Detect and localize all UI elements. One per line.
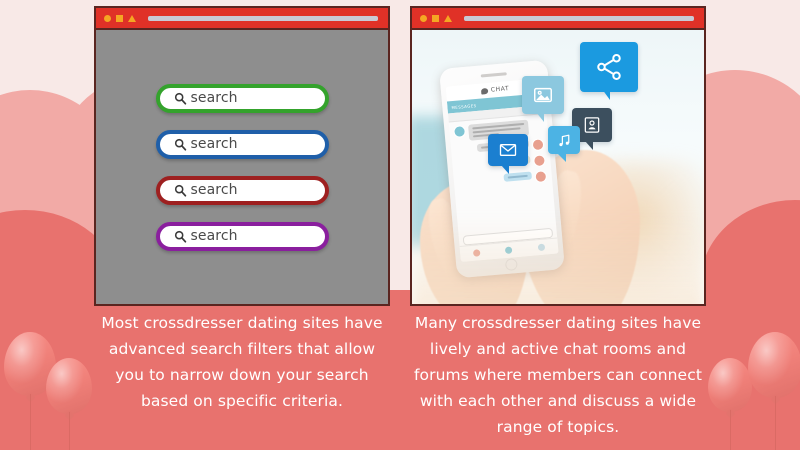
share-icon — [594, 52, 624, 82]
balloon-body — [46, 358, 92, 414]
balloon-body — [708, 358, 752, 412]
balloon-body — [748, 332, 800, 398]
balloon-decoration — [46, 358, 92, 414]
magnifier-icon — [174, 92, 187, 105]
chat-app-title: CHAT — [491, 85, 510, 94]
circle-dot-icon[interactable] — [104, 15, 111, 22]
contact-icon — [582, 115, 602, 135]
bubble-tail — [501, 165, 509, 174]
search-bar-list: search search search — [96, 30, 388, 304]
chat-browser-panel: CHAT MESSAGES — [410, 6, 706, 306]
chat-bubble-icon — [481, 87, 488, 94]
balloon-decoration — [708, 358, 752, 412]
chat-topbar-label: MESSAGES — [451, 102, 477, 109]
phone-speaker — [481, 72, 507, 77]
search-bar-label: search — [191, 136, 238, 152]
music-note-icon — [556, 132, 573, 149]
balloon-string — [730, 410, 731, 450]
avatar — [453, 125, 466, 138]
address-bar[interactable] — [464, 16, 694, 21]
search-browser-panel: search search search — [94, 6, 390, 306]
address-bar[interactable] — [148, 16, 378, 21]
search-panel-caption: Most crossdresser dating sites have adva… — [94, 310, 390, 414]
music-bubble — [548, 126, 580, 154]
search-bar-red[interactable]: search — [156, 176, 329, 205]
avatar — [534, 170, 547, 183]
square-dot-icon[interactable] — [432, 15, 439, 22]
search-bar-label: search — [191, 228, 238, 244]
envelope-bubble — [488, 134, 528, 166]
browser-titlebar — [96, 8, 388, 30]
search-bar-purple[interactable]: search — [156, 222, 329, 251]
bubble-tail — [585, 141, 593, 150]
balloon-decoration — [748, 332, 800, 398]
magnifier-icon — [174, 184, 187, 197]
search-bar-green[interactable]: search — [156, 84, 329, 113]
search-bar-label: search — [191, 182, 238, 198]
chat-panel-caption: Many crossdresser dating sites have live… — [408, 310, 708, 440]
window-controls[interactable] — [104, 15, 136, 22]
triangle-dot-icon[interactable] — [128, 15, 136, 22]
browser-titlebar — [412, 8, 704, 30]
balloon-string — [69, 412, 70, 450]
search-bar-blue[interactable]: search — [156, 130, 329, 159]
slide-canvas: search search search — [0, 0, 800, 450]
image-bubble — [522, 76, 564, 114]
balloon-string — [30, 394, 31, 450]
bubble-tail — [558, 154, 566, 162]
bubble-tail — [536, 112, 544, 122]
search-bar-label: search — [191, 90, 238, 106]
magnifier-icon — [174, 138, 187, 151]
share-bubble — [580, 42, 638, 92]
balloon-string — [775, 396, 776, 450]
envelope-icon — [498, 140, 518, 160]
photo-foreground-glow — [412, 214, 704, 304]
browser-viewport: CHAT MESSAGES — [412, 30, 704, 304]
window-controls[interactable] — [420, 15, 452, 22]
circle-dot-icon[interactable] — [420, 15, 427, 22]
bubble-tail — [602, 89, 610, 100]
hand-holding-phone-photo: CHAT MESSAGES — [412, 30, 704, 304]
square-dot-icon[interactable] — [116, 15, 123, 22]
triangle-dot-icon[interactable] — [444, 15, 452, 22]
magnifier-icon — [174, 230, 187, 243]
browser-viewport: search search search — [96, 30, 388, 304]
image-icon — [532, 84, 554, 106]
